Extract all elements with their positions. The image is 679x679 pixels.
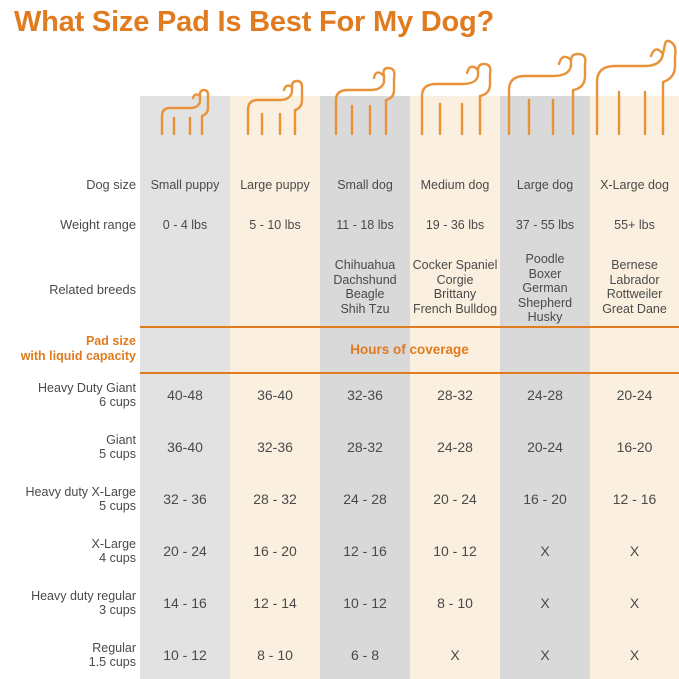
dog-silhouette-large-dog xyxy=(500,2,590,136)
cell-related-breeds-4: Poodle Boxer German Shepherd Husky xyxy=(500,252,590,325)
cell-dog-size-4: Large dog xyxy=(500,178,590,193)
cell-r2-c2: 24 - 28 xyxy=(320,492,410,507)
cell-r2-c0: 32 - 36 xyxy=(140,492,230,507)
row-label-pad-3-name: X-Large xyxy=(0,537,136,552)
cell-r3-c3: 10 - 12 xyxy=(410,544,500,559)
dog-silhouette-small-dog xyxy=(320,18,410,136)
cell-weight-range-0: 0 - 4 lbs xyxy=(140,218,230,233)
cell-r2-c5: 12 - 16 xyxy=(590,492,679,507)
cell-dog-size-1: Large puppy xyxy=(230,178,320,193)
cell-r2-c3: 20 - 24 xyxy=(410,492,500,507)
cell-r0-c5: 20-24 xyxy=(590,388,679,403)
cell-dog-size-0: Small puppy xyxy=(140,178,230,193)
cell-weight-range-5: 55+ lbs xyxy=(590,218,679,233)
cell-dog-size-2: Small dog xyxy=(320,178,410,193)
cell-r5-c4: X xyxy=(500,648,590,663)
cell-r3-c0: 20 - 24 xyxy=(140,544,230,559)
cell-r3-c2: 12 - 16 xyxy=(320,544,410,559)
cell-r1-c0: 36-40 xyxy=(140,440,230,455)
row-label-pad-2-name: Heavy duty X-Large xyxy=(0,485,136,500)
row-label-pad-2-capacity: 5 cups xyxy=(0,499,136,514)
dog-silhouette-small-puppy xyxy=(140,40,230,136)
dog-silhouette-large-puppy xyxy=(230,30,320,136)
cell-r4-c2: 10 - 12 xyxy=(320,596,410,611)
row-label-pad-0-name: Heavy Duty Giant xyxy=(0,381,136,396)
row-label-pad-4-capacity: 3 cups xyxy=(0,603,136,618)
row-label-pad-0-capacity: 6 cups xyxy=(0,395,136,410)
cell-related-breeds-3: Cocker Spaniel Corgie Brittany French Bu… xyxy=(410,258,500,316)
cell-dog-size-3: Medium dog xyxy=(410,178,500,193)
cell-weight-range-2: 11 - 18 lbs xyxy=(320,218,410,233)
row-label-dog-size: Dog size xyxy=(0,178,136,193)
cell-r0-c4: 24-28 xyxy=(500,388,590,403)
row-label-pad-1-capacity: 5 cups xyxy=(0,447,136,462)
cell-weight-range-3: 19 - 36 lbs xyxy=(410,218,500,233)
infographic-root: What Size Pad Is Best For My Dog? xyxy=(0,0,679,679)
cell-r0-c1: 36-40 xyxy=(230,388,320,403)
divider-bottom xyxy=(140,372,679,374)
cell-r4-c0: 14 - 16 xyxy=(140,596,230,611)
cell-r3-c4: X xyxy=(500,544,590,559)
row-label-pad-4-name: Heavy duty regular xyxy=(0,589,136,604)
cell-r4-c1: 12 - 14 xyxy=(230,596,320,611)
dog-silhouette-xlarge-dog xyxy=(590,0,679,136)
row-label-pad-size-line1: Pad size xyxy=(0,334,136,349)
row-label-pad-size-line2: with liquid capacity xyxy=(0,349,136,364)
cell-r0-c0: 40-48 xyxy=(140,388,230,403)
cell-r1-c3: 24-28 xyxy=(410,440,500,455)
cell-r4-c4: X xyxy=(500,596,590,611)
row-label-pad-5-capacity: 1.5 cups xyxy=(0,655,136,670)
cell-weight-range-1: 5 - 10 lbs xyxy=(230,218,320,233)
row-label-pad-3-capacity: 4 cups xyxy=(0,551,136,566)
row-label-pad-1-name: Giant xyxy=(0,433,136,448)
cell-r5-c0: 10 - 12 xyxy=(140,648,230,663)
cell-r1-c5: 16-20 xyxy=(590,440,679,455)
cell-r2-c4: 16 - 20 xyxy=(500,492,590,507)
cell-r4-c5: X xyxy=(590,596,679,611)
cell-r3-c5: X xyxy=(590,544,679,559)
cell-r2-c1: 28 - 32 xyxy=(230,492,320,507)
cell-r1-c1: 32-36 xyxy=(230,440,320,455)
divider-top xyxy=(140,326,679,328)
cell-r5-c5: X xyxy=(590,648,679,663)
cell-related-breeds-2: Chihuahua Dachshund Beagle Shih Tzu xyxy=(320,258,410,316)
cell-r5-c1: 8 - 10 xyxy=(230,648,320,663)
comparison-table: Dog size Weight range Related breeds Sma… xyxy=(0,68,679,679)
cell-r5-c3: X xyxy=(410,648,500,663)
dog-silhouette-medium-dog xyxy=(410,10,500,136)
cell-dog-size-5: X-Large dog xyxy=(590,178,679,193)
row-label-related-breeds: Related breeds xyxy=(0,283,136,298)
cell-r1-c4: 20-24 xyxy=(500,440,590,455)
cell-r5-c2: 6 - 8 xyxy=(320,648,410,663)
cell-r0-c2: 32-36 xyxy=(320,388,410,403)
cell-r1-c2: 28-32 xyxy=(320,440,410,455)
cell-r4-c3: 8 - 10 xyxy=(410,596,500,611)
row-label-weight-range: Weight range xyxy=(0,218,136,233)
cell-r0-c3: 28-32 xyxy=(410,388,500,403)
row-label-pad-5-name: Regular xyxy=(0,641,136,656)
hours-of-coverage-header: Hours of coverage xyxy=(140,342,679,357)
cell-related-breeds-5: Bernese Labrador Rottweiler Great Dane xyxy=(590,258,679,316)
cell-r3-c1: 16 - 20 xyxy=(230,544,320,559)
cell-weight-range-4: 37 - 55 lbs xyxy=(500,218,590,233)
